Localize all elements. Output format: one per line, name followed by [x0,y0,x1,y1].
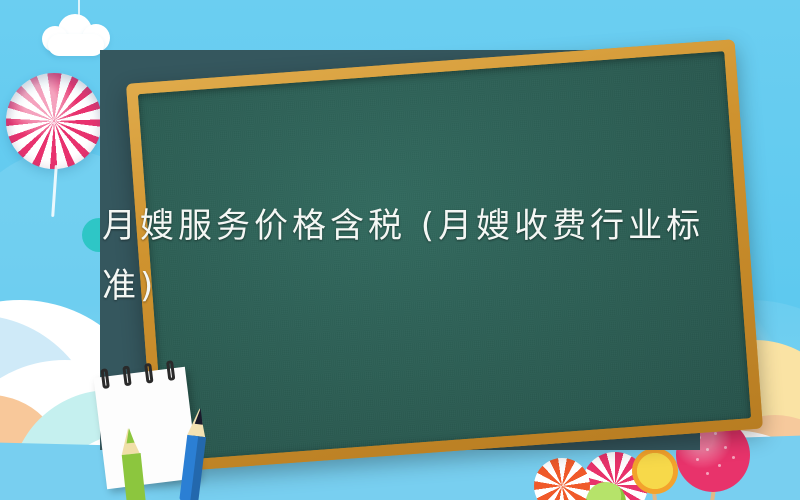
striped-orange-lollipop-icon [534,458,590,500]
citrus-lollipop-icon [632,448,678,494]
headline-text: 月嫂服务价格含税 (月嫂收费行业标准) [102,196,742,316]
cloud-icon [42,20,112,50]
lollipop-stick [6,73,102,169]
poster-canvas: 月嫂服务价格含税 (月嫂收费行业标准) [0,0,800,500]
green-lollipop-icon [586,482,626,500]
